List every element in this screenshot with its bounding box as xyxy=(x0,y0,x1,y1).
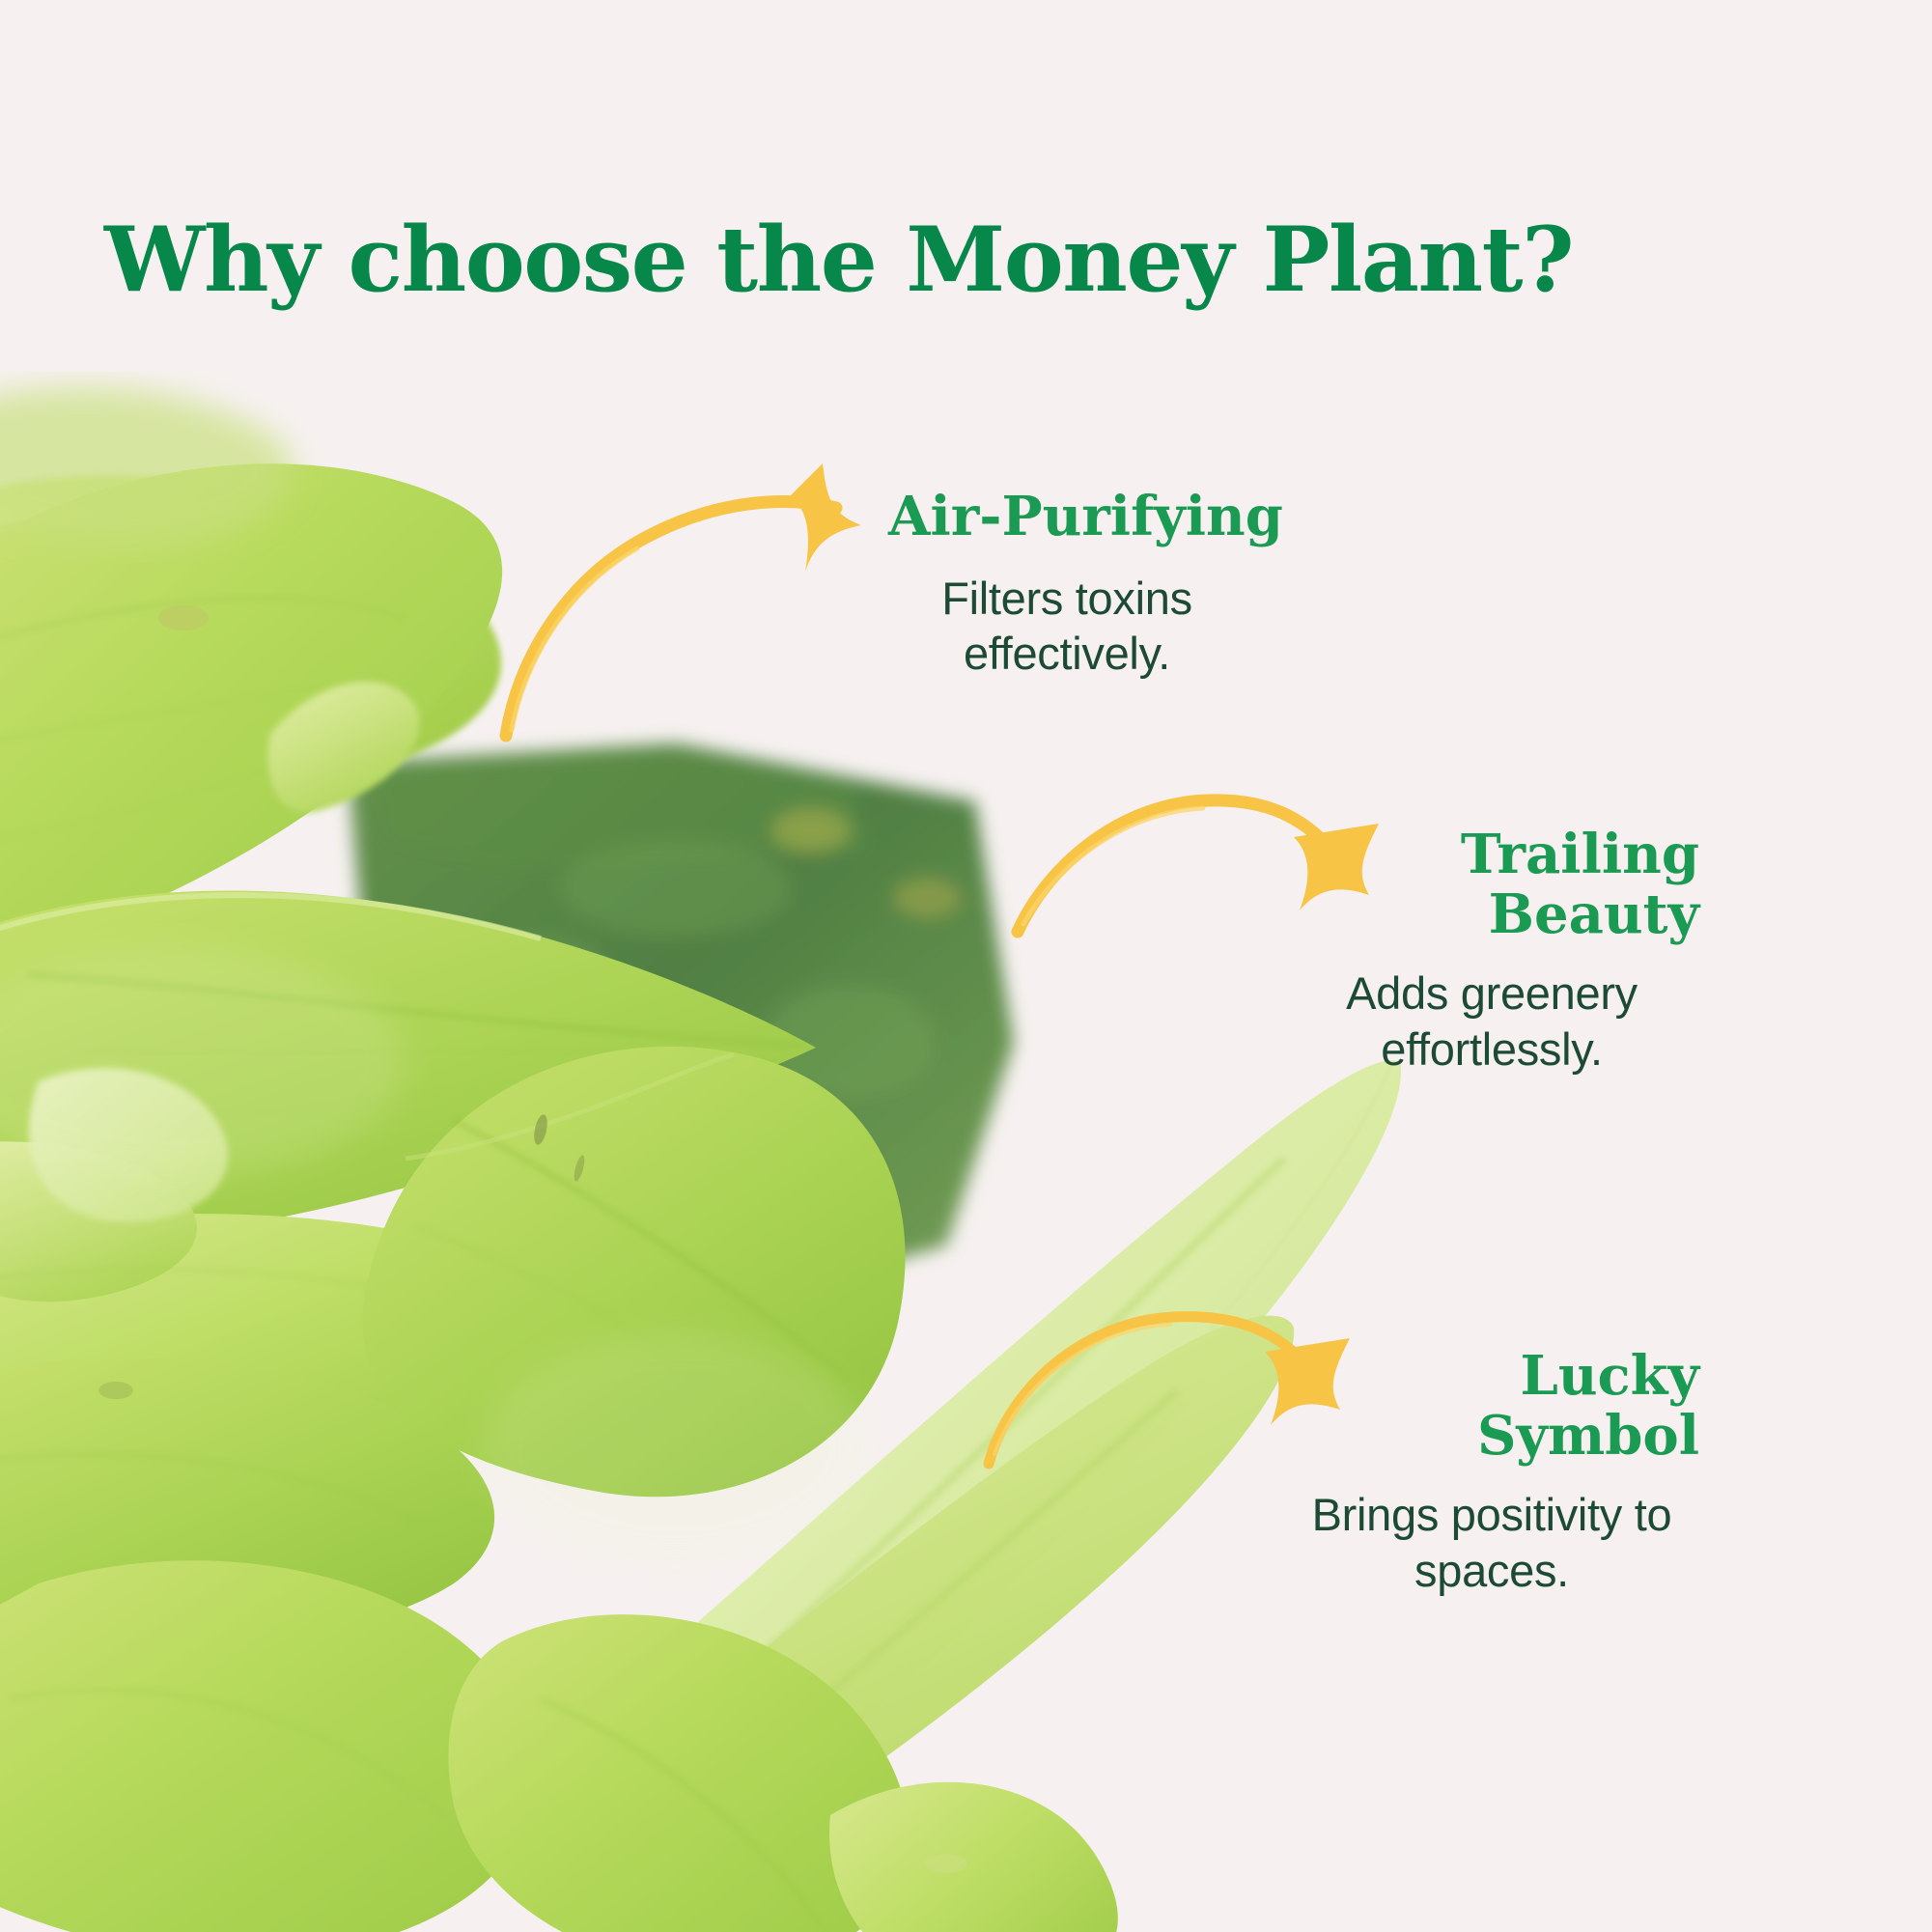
callout-trailing-beauty: Trailing Beauty Adds greenery effortless… xyxy=(1284,826,1699,1077)
callout-title: Air-Purifying xyxy=(888,488,1294,547)
callout-description: Filters toxins effectively. xyxy=(888,571,1246,682)
poster-canvas: Why choose the Money Plant? Air-Purifyin… xyxy=(0,0,1932,1932)
callout-air-purifying: Air-Purifying Filters toxins effectively… xyxy=(888,488,1294,681)
callout-title: Lucky Symbol xyxy=(1284,1347,1699,1466)
callout-description: Brings positivity to spaces. xyxy=(1284,1487,1699,1598)
curved-arrow-right-icon-1 xyxy=(483,454,908,748)
callout-description: Adds greenery effortlessly. xyxy=(1284,966,1699,1077)
callout-title: Trailing Beauty xyxy=(1284,826,1699,944)
page-title: Why choose the Money Plant? xyxy=(104,212,1573,307)
callout-lucky-symbol: Lucky Symbol Brings positivity to spaces… xyxy=(1284,1347,1699,1598)
